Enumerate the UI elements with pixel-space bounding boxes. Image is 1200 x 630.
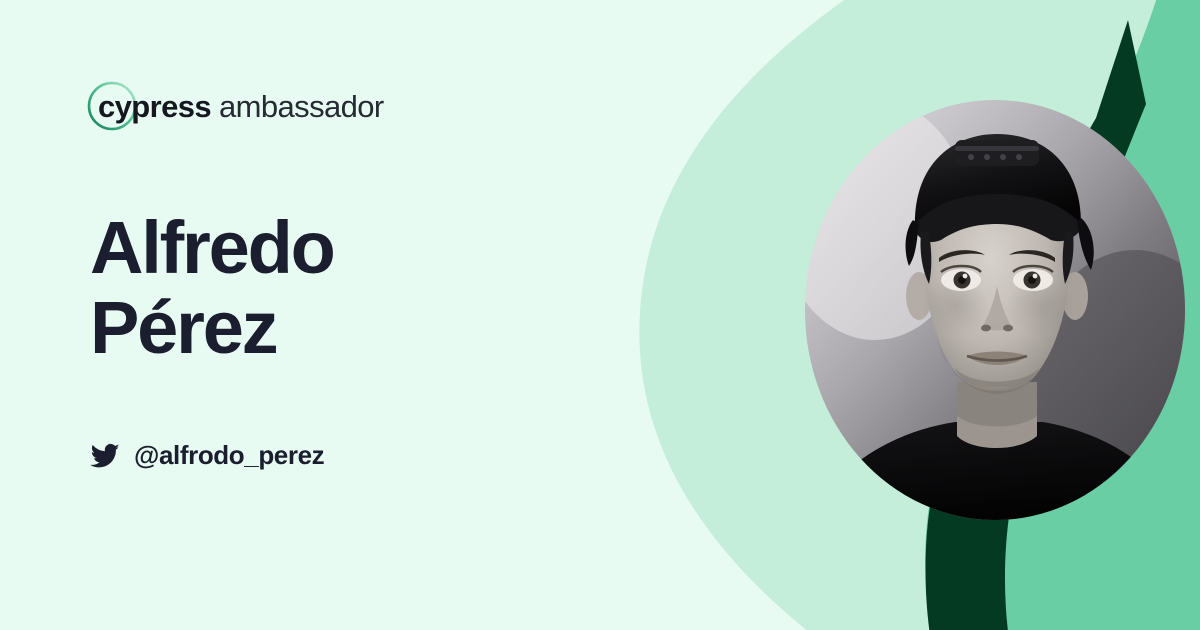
page-title: Alfredo Pérez bbox=[90, 208, 570, 368]
logo-wordmark: cypress ambassador bbox=[90, 91, 384, 122]
social-handle[interactable]: @alfrodo_perez bbox=[90, 440, 324, 471]
person-first-name: Alfredo bbox=[90, 208, 570, 288]
cypress-ambassador-logo: cypress ambassador bbox=[90, 78, 384, 134]
logo-word-cypress: cypress bbox=[98, 89, 211, 124]
logo-word-ambassador: ambassador bbox=[211, 89, 384, 124]
content-column: cypress ambassador Alfredo Pérez @alfrod… bbox=[0, 0, 640, 630]
avatar-photo bbox=[805, 100, 1185, 520]
avatar bbox=[805, 100, 1185, 520]
person-last-name: Pérez bbox=[90, 288, 570, 368]
twitter-handle-text: @alfrodo_perez bbox=[134, 440, 324, 471]
twitter-bird-icon bbox=[90, 441, 120, 471]
ambassador-card: cypress ambassador Alfredo Pérez @alfrod… bbox=[0, 0, 1200, 630]
